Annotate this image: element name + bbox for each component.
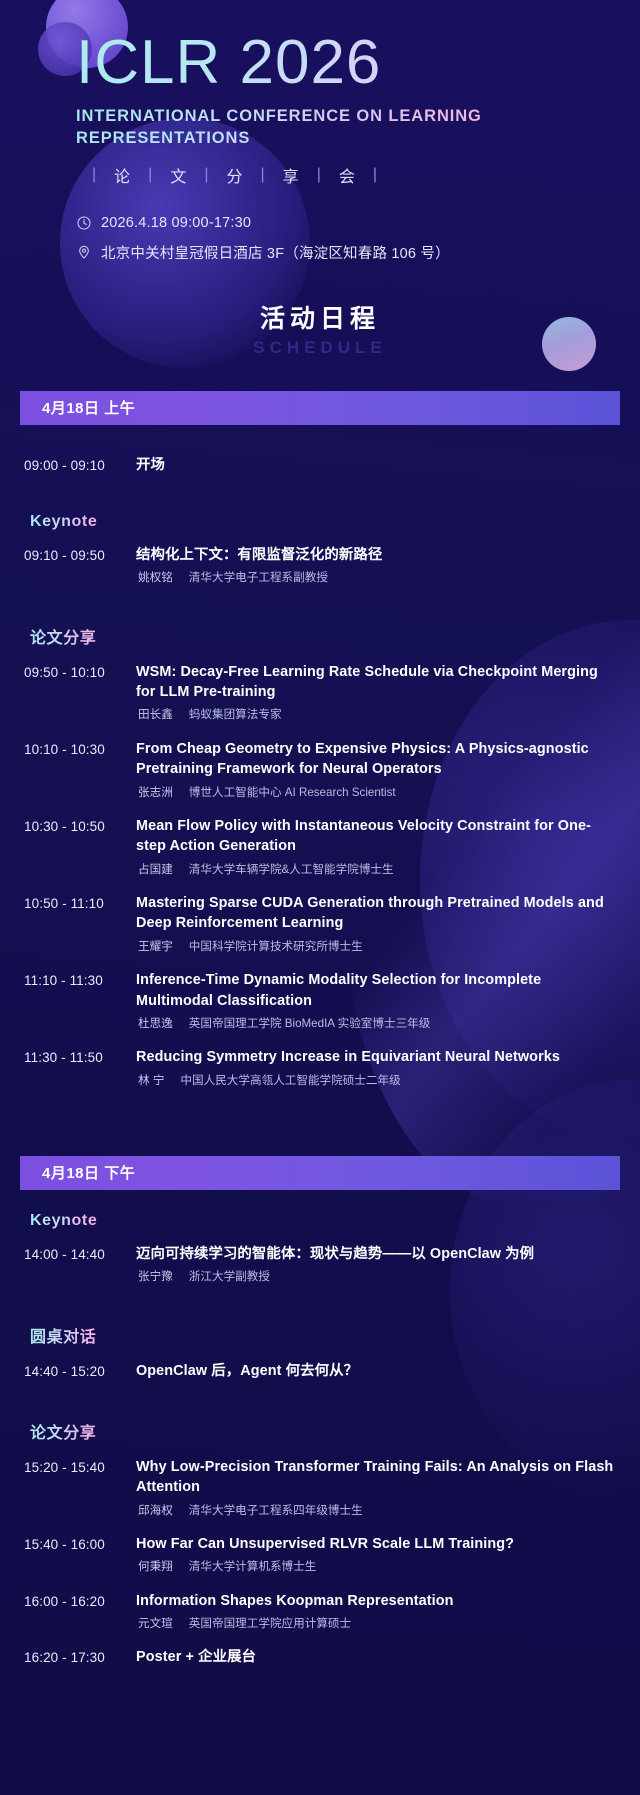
schedule-row-speaker: 姚权铭清华大学电子工程系副教授 bbox=[136, 570, 620, 586]
schedule-row-title: 开场 bbox=[136, 455, 620, 475]
speaker-affiliation: 中国人民大学高瓴人工智能学院硕士二年级 bbox=[180, 1074, 400, 1087]
spacer bbox=[24, 1104, 620, 1134]
speaker-affiliation: 浙江大学副教授 bbox=[189, 1270, 270, 1283]
chinese-tagline: | 论 | 文 | 分 | 享 | 会 | bbox=[76, 163, 640, 187]
poster-page: ICLR 2026 INTERNATIONAL CONFERENCE ON LE… bbox=[0, 0, 640, 1713]
schedule-group-label: Keynote bbox=[30, 513, 97, 531]
speaker-affiliation: 清华大学电子工程系四年级博士生 bbox=[189, 1504, 363, 1517]
schedule-row-main: Mean Flow Policy with Instantaneous Velo… bbox=[136, 816, 620, 878]
schedule-row-time: 09:50 - 10:10 bbox=[24, 662, 136, 683]
schedule-body: 09:00 - 09:10开场Keynote09:10 - 09:50结构化上下… bbox=[0, 425, 640, 1134]
location-pin-icon bbox=[76, 244, 92, 260]
schedule-row-main: How Far Can Unsupervised RLVR Scale LLM … bbox=[136, 1534, 620, 1576]
schedule-row-speaker: 何秉翔清华大学计算机系博士生 bbox=[136, 1559, 620, 1575]
schedule-row-speaker: 林 宁中国人民大学高瓴人工智能学院硕士二年级 bbox=[136, 1073, 620, 1089]
tagline-divider-4: | bbox=[301, 166, 339, 184]
schedule-row: 10:30 - 10:50Mean Flow Policy with Insta… bbox=[24, 816, 620, 878]
schedule-row-time: 09:10 - 09:50 bbox=[24, 545, 136, 566]
spacer bbox=[24, 425, 620, 455]
schedule-sections: 4月18日 上午09:00 - 09:10开场Keynote09:10 - 09… bbox=[0, 391, 640, 1714]
schedule-row-speaker: 杜思逸英国帝国理工学院 BioMedIA 实验室博士三年级 bbox=[136, 1016, 620, 1032]
speaker-name: 王耀宇 bbox=[138, 940, 173, 953]
tagline-divider-5: | bbox=[357, 166, 395, 184]
tagline-divider-1: | bbox=[132, 166, 170, 184]
schedule-row-time: 14:00 - 14:40 bbox=[24, 1244, 136, 1265]
conference-title: ICLR 2026 bbox=[76, 30, 640, 95]
schedule-row-time: 16:20 - 17:30 bbox=[24, 1647, 136, 1668]
schedule-row-main: Inference-Time Dynamic Modality Selectio… bbox=[136, 970, 620, 1032]
schedule-row-time: 10:10 - 10:30 bbox=[24, 739, 136, 760]
schedule-row-time: 14:40 - 15:20 bbox=[24, 1361, 136, 1382]
schedule-row: 09:50 - 10:10WSM: Decay-Free Learning Ra… bbox=[24, 662, 620, 724]
schedule-row-title: Mastering Sparse CUDA Generation through… bbox=[136, 893, 620, 934]
schedule-row-main: Mastering Sparse CUDA Generation through… bbox=[136, 893, 620, 955]
schedule-group-label: 圆桌对话 bbox=[30, 1323, 96, 1347]
speaker-affiliation: 英国帝国理工学院 BioMedIA 实验室博士三年级 bbox=[189, 1017, 431, 1030]
tagline-char-2: 分 bbox=[227, 163, 245, 187]
schedule-row-speaker: 张宁豫浙江大学副教授 bbox=[136, 1269, 620, 1285]
schedule-row-time: 11:30 - 11:50 bbox=[24, 1047, 136, 1068]
speaker-name: 邱海权 bbox=[138, 1504, 173, 1517]
schedule-row: 10:50 - 11:10Mastering Sparse CUDA Gener… bbox=[24, 893, 620, 955]
speaker-affiliation: 博世人工智能中心 AI Research Scientist bbox=[189, 786, 396, 799]
event-meta: 2026.4.18 09:00-17:30 北京中关村皇冠假日酒店 3F（海淀区… bbox=[76, 215, 640, 263]
schedule-body: Keynote14:00 - 14:40迈向可持续学习的智能体：现状与趋势——以… bbox=[0, 1190, 640, 1714]
schedule-row: 15:20 - 15:40Why Low-Precision Transform… bbox=[24, 1457, 620, 1519]
spacer bbox=[24, 1683, 620, 1713]
speaker-name: 张宁豫 bbox=[138, 1270, 173, 1283]
speaker-name: 占国建 bbox=[138, 863, 173, 876]
schedule-row: 14:00 - 14:40迈向可持续学习的智能体：现状与趋势——以 OpenCl… bbox=[24, 1244, 620, 1286]
schedule-row-title: WSM: Decay-Free Learning Rate Schedule v… bbox=[136, 662, 620, 703]
speaker-name: 林 宁 bbox=[138, 1074, 164, 1087]
event-datetime-row: 2026.4.18 09:00-17:30 bbox=[76, 215, 640, 231]
tagline-divider-0: | bbox=[76, 166, 114, 184]
schedule-row-main: Reducing Symmetry Increase in Equivarian… bbox=[136, 1047, 620, 1089]
speaker-affiliation: 英国帝国理工学院应用计算硕士 bbox=[189, 1617, 351, 1630]
tagline-char-4: 会 bbox=[339, 163, 357, 187]
schedule-row-main: From Cheap Geometry to Expensive Physics… bbox=[136, 739, 620, 801]
schedule-row-main: OpenClaw 后，Agent 何去何从？ bbox=[136, 1361, 620, 1381]
speaker-affiliation: 蚂蚁集团算法专家 bbox=[189, 708, 282, 721]
schedule-row-title: Poster + 企业展台 bbox=[136, 1647, 620, 1667]
schedule-row-title: 迈向可持续学习的智能体：现状与趋势——以 OpenClaw 为例 bbox=[136, 1244, 620, 1264]
day-banner: 4月18日 上午 bbox=[20, 391, 620, 425]
schedule-row-speaker: 张志洲博世人工智能中心 AI Research Scientist bbox=[136, 785, 620, 801]
speaker-affiliation: 中国科学院计算技术研究所博士生 bbox=[189, 940, 363, 953]
schedule-row: 09:10 - 09:50结构化上下文：有限监督泛化的新路径姚权铭清华大学电子工… bbox=[24, 545, 620, 587]
schedule-row-title: Inference-Time Dynamic Modality Selectio… bbox=[136, 970, 620, 1011]
schedule-row: 16:20 - 17:30Poster + 企业展台 bbox=[24, 1647, 620, 1668]
schedule-title-en: SCHEDULE bbox=[0, 338, 640, 358]
schedule-row-speaker: 占国建清华大学车辆学院&人工智能学院博士生 bbox=[136, 862, 620, 878]
schedule-group-label: 论文分享 bbox=[30, 624, 96, 648]
tagline-divider-3: | bbox=[245, 166, 283, 184]
speaker-affiliation: 清华大学电子工程系副教授 bbox=[189, 571, 328, 584]
schedule-row: 15:40 - 16:00How Far Can Unsupervised RL… bbox=[24, 1534, 620, 1576]
poster-header: ICLR 2026 INTERNATIONAL CONFERENCE ON LE… bbox=[0, 0, 640, 263]
schedule-row-title: Mean Flow Policy with Instantaneous Velo… bbox=[136, 816, 620, 857]
speaker-name: 何秉翔 bbox=[138, 1560, 173, 1573]
speaker-name: 杜思逸 bbox=[138, 1017, 173, 1030]
schedule-row-main: 开场 bbox=[136, 455, 620, 475]
speaker-affiliation: 清华大学车辆学院&人工智能学院博士生 bbox=[189, 863, 394, 876]
schedule-row-title: 结构化上下文：有限监督泛化的新路径 bbox=[136, 545, 620, 565]
tagline-divider-2: | bbox=[188, 166, 226, 184]
tagline-char-3: 享 bbox=[283, 163, 301, 187]
schedule-row-time: 15:20 - 15:40 bbox=[24, 1457, 136, 1478]
speaker-name: 姚权铭 bbox=[138, 571, 173, 584]
schedule-heading: 活动日程 SCHEDULE bbox=[0, 307, 640, 369]
schedule-row-main: Poster + 企业展台 bbox=[136, 1647, 620, 1667]
schedule-row-main: 迈向可持续学习的智能体：现状与趋势——以 OpenClaw 为例张宁豫浙江大学副… bbox=[136, 1244, 620, 1286]
schedule-row: 11:10 - 11:30Inference-Time Dynamic Moda… bbox=[24, 970, 620, 1032]
schedule-row: 09:00 - 09:10开场 bbox=[24, 455, 620, 476]
tagline-char-0: 论 bbox=[114, 163, 132, 187]
schedule-row-speaker: 王耀宇中国科学院计算技术研究所博士生 bbox=[136, 939, 620, 955]
schedule-row: 14:40 - 15:20OpenClaw 后，Agent 何去何从？ bbox=[24, 1361, 620, 1382]
schedule-row-speaker: 田长鑫蚂蚁集团算法专家 bbox=[136, 707, 620, 723]
schedule-row-time: 10:50 - 11:10 bbox=[24, 893, 136, 914]
schedule-row-title: OpenClaw 后，Agent 何去何从？ bbox=[136, 1361, 620, 1381]
event-datetime: 2026.4.18 09:00-17:30 bbox=[101, 215, 251, 231]
schedule-row-main: WSM: Decay-Free Learning Rate Schedule v… bbox=[136, 662, 620, 724]
schedule-row-time: 15:40 - 16:00 bbox=[24, 1534, 136, 1555]
speaker-name: 田长鑫 bbox=[138, 708, 173, 721]
event-location-row: 北京中关村皇冠假日酒店 3F（海淀区知春路 106 号） bbox=[76, 242, 640, 263]
schedule-group-label: 论文分享 bbox=[30, 1419, 96, 1443]
schedule-row-title: From Cheap Geometry to Expensive Physics… bbox=[136, 739, 620, 780]
schedule-row: 16:00 - 16:20Information Shapes Koopman … bbox=[24, 1591, 620, 1633]
speaker-affiliation: 清华大学计算机系博士生 bbox=[189, 1560, 317, 1573]
day-banner: 4月18日 下午 bbox=[20, 1156, 620, 1190]
schedule-row-title: Why Low-Precision Transformer Training F… bbox=[136, 1457, 620, 1498]
schedule-row-title: How Far Can Unsupervised RLVR Scale LLM … bbox=[136, 1534, 620, 1554]
schedule-row-speaker: 邱海权清华大学电子工程系四年级博士生 bbox=[136, 1503, 620, 1519]
schedule-row-main: 结构化上下文：有限监督泛化的新路径姚权铭清华大学电子工程系副教授 bbox=[136, 545, 620, 587]
clock-icon bbox=[76, 215, 92, 231]
schedule-row-main: Why Low-Precision Transformer Training F… bbox=[136, 1457, 620, 1519]
schedule-row-title: Reducing Symmetry Increase in Equivarian… bbox=[136, 1047, 620, 1067]
schedule-row-time: 10:30 - 10:50 bbox=[24, 816, 136, 837]
speaker-name: 元文瑄 bbox=[138, 1617, 173, 1630]
speaker-name: 张志洲 bbox=[138, 786, 173, 799]
schedule-title-cn: 活动日程 bbox=[0, 307, 640, 332]
tagline-char-1: 文 bbox=[170, 163, 188, 187]
schedule-row-time: 11:10 - 11:30 bbox=[24, 970, 136, 991]
schedule-row: 10:10 - 10:30From Cheap Geometry to Expe… bbox=[24, 739, 620, 801]
schedule-row-time: 09:00 - 09:10 bbox=[24, 455, 136, 476]
schedule-row: 11:30 - 11:50Reducing Symmetry Increase … bbox=[24, 1047, 620, 1089]
event-location: 北京中关村皇冠假日酒店 3F（海淀区知春路 106 号） bbox=[101, 242, 450, 263]
schedule-row-time: 16:00 - 16:20 bbox=[24, 1591, 136, 1612]
conference-subtitle: INTERNATIONAL CONFERENCE ON LEARNING REP… bbox=[76, 105, 506, 150]
schedule-row-main: Information Shapes Koopman Representatio… bbox=[136, 1591, 620, 1633]
schedule-row-speaker: 元文瑄英国帝国理工学院应用计算硕士 bbox=[136, 1616, 620, 1632]
schedule-row-title: Information Shapes Koopman Representatio… bbox=[136, 1591, 620, 1611]
schedule-group-label: Keynote bbox=[30, 1212, 97, 1230]
